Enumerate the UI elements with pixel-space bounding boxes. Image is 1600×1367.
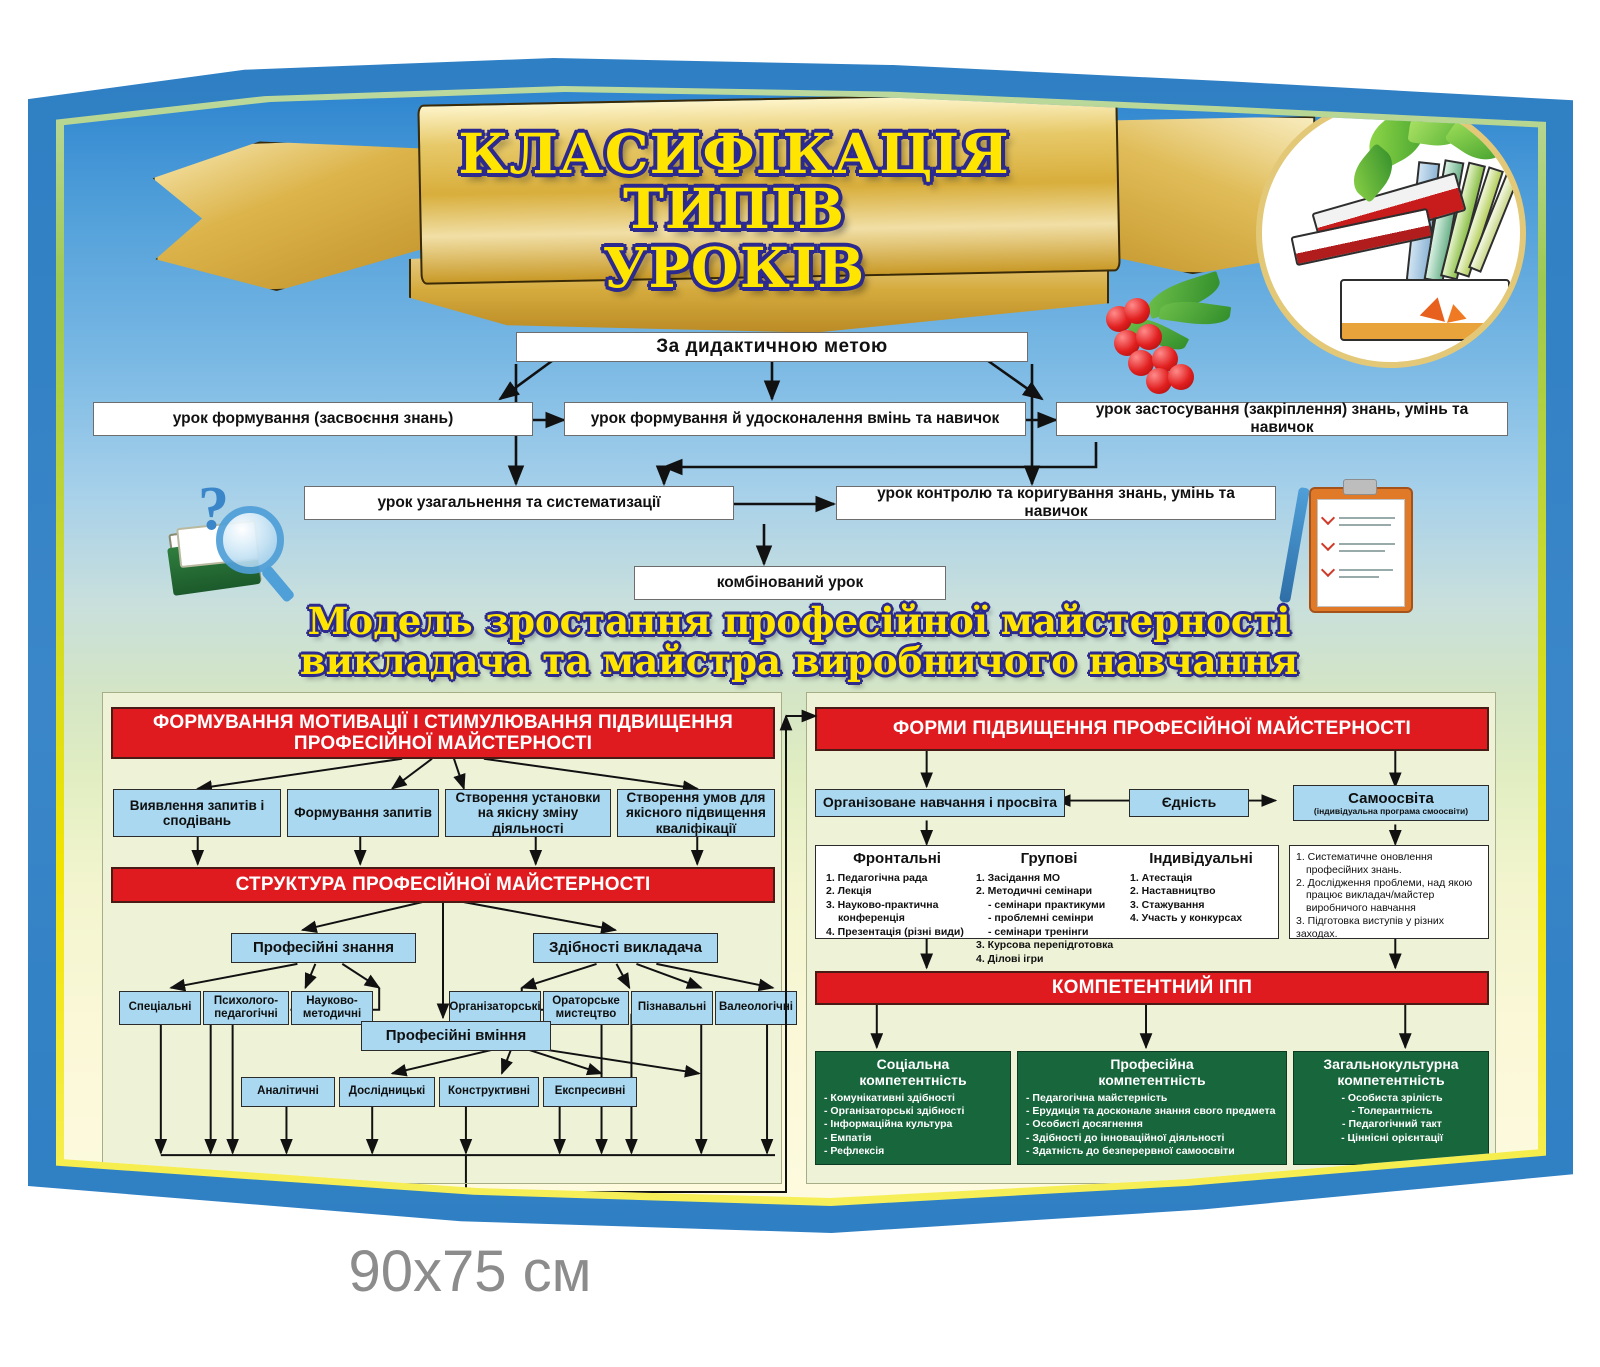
- poster-canvas: КЛАСИФІКАЦІЯ ТИПІВ УРОКІВ: [0, 0, 1600, 1367]
- cross-panel-connector: [64, 92, 1538, 1198]
- dimensions-caption: 90x75 см: [250, 1238, 690, 1305]
- poster-page: КЛАСИФІКАЦІЯ ТИПІВ УРОКІВ: [64, 92, 1538, 1198]
